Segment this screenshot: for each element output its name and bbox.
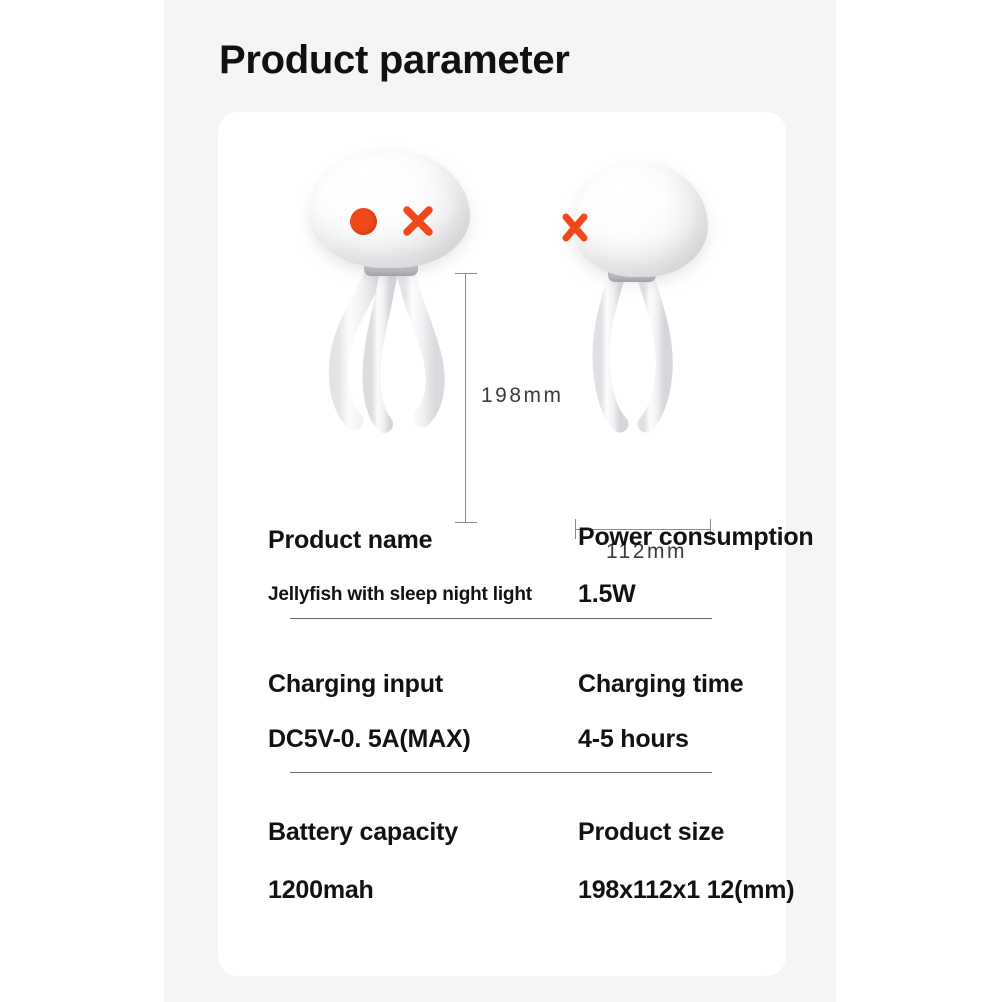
dome-highlight [342,163,406,194]
eye-side-cross-icon [562,212,590,242]
height-dimension-label: 198mm [481,384,564,408]
page-title: Product parameter [219,38,570,83]
eye-left-dot-icon [350,208,377,235]
spec-label-product-size: Product size [578,818,724,847]
jellyfish-front-tentacles [312,258,482,438]
spec-label-charging-input: Charging input [268,670,443,699]
spec-value-charging-time: 4-5 hours [578,725,689,754]
height-dimension-cap-top [455,273,477,274]
product-illustration: 198mm 112mm [218,112,818,482]
product-parameter-infographic: Product parameter [0,0,1002,1002]
spec-row-separator-2 [290,772,712,773]
jellyfish-side-tentacles [588,266,708,436]
spec-row-separator-1 [290,618,712,619]
eye-right-cross-icon [402,205,434,237]
spec-value-battery-capacity: 1200mah [268,876,374,905]
spec-value-product-name: Jellyfish with sleep night light [268,584,532,606]
height-dimension-cap-bottom [455,522,477,523]
spec-label-product-name: Product name [268,526,432,555]
spec-value-product-size: 198x112x1 12(mm) [578,876,794,905]
jellyfish-side-view [570,162,710,427]
jellyfish-front-dome [310,150,470,268]
spec-label-power-consumption: Power consumption [578,523,814,552]
jellyfish-front-view [310,150,470,440]
jellyfish-side-dome [572,162,708,277]
spec-label-battery-capacity: Battery capacity [268,818,458,847]
spec-label-charging-time: Charging time [578,670,743,699]
spec-value-power-consumption: 1.5W [578,580,636,609]
height-dimension-line [465,273,466,522]
spec-value-charging-input: DC5V-0. 5A(MAX) [268,725,471,754]
dome-highlight-side [599,175,653,205]
